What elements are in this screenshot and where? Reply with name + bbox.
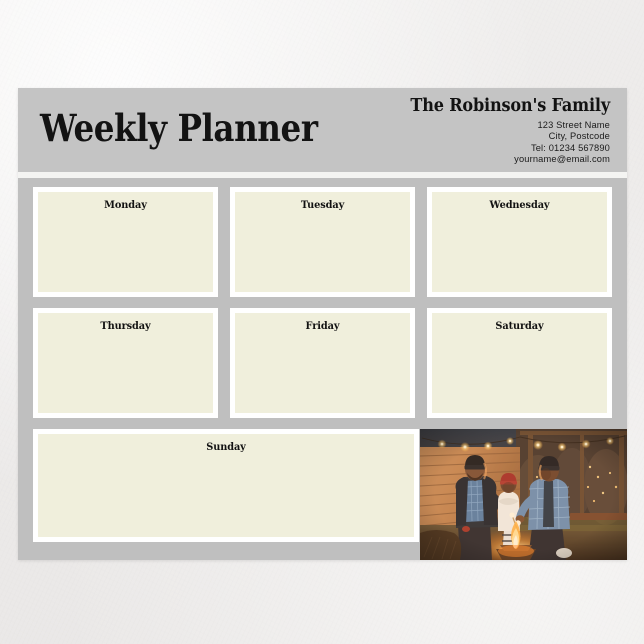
day-card-inner: Tuesday: [235, 192, 410, 292]
contact-lines: 123 Street Name City, Postcode Tel: 0123…: [320, 120, 610, 166]
header-band: Weekly Planner The Robinson's Family 123…: [18, 88, 627, 172]
day-card-wednesday[interactable]: Wednesday: [427, 187, 612, 297]
contact-telephone: Tel: 01234 567890: [320, 143, 610, 154]
day-label: Tuesday: [241, 199, 404, 211]
day-label: Thursday: [44, 320, 207, 332]
day-card-inner: Friday: [235, 313, 410, 413]
day-card-inner: Saturday: [432, 313, 607, 413]
family-name: The Robinson's Family: [343, 95, 610, 117]
day-grid: Monday Tuesday Wednesday Thursday Friday: [18, 178, 627, 560]
day-card-inner: Monday: [38, 192, 213, 292]
day-card-sunday[interactable]: Sunday: [33, 429, 419, 542]
family-photo-image: [420, 429, 627, 560]
page-title: Weekly Planner: [40, 105, 318, 151]
day-card-inner: Sunday: [38, 434, 414, 537]
day-card-tuesday[interactable]: Tuesday: [230, 187, 415, 297]
contact-city: City, Postcode: [320, 131, 610, 142]
day-card-friday[interactable]: Friday: [230, 308, 415, 418]
day-card-inner: Wednesday: [432, 192, 607, 292]
day-card-inner: Thursday: [38, 313, 213, 413]
day-card-monday[interactable]: Monday: [33, 187, 218, 297]
contact-street: 123 Street Name: [320, 120, 610, 131]
contact-block: The Robinson's Family 123 Street Name Ci…: [320, 95, 610, 166]
day-label: Wednesday: [438, 199, 601, 211]
family-photo[interactable]: [420, 429, 627, 560]
day-label: Saturday: [438, 320, 601, 332]
day-card-thursday[interactable]: Thursday: [33, 308, 218, 418]
day-card-saturday[interactable]: Saturday: [427, 308, 612, 418]
day-label: Monday: [44, 199, 207, 211]
planner-sheet: Weekly Planner The Robinson's Family 123…: [18, 88, 627, 560]
day-label: Sunday: [51, 441, 401, 453]
contact-email: yourname@email.com: [320, 154, 610, 165]
day-label: Friday: [241, 320, 404, 332]
